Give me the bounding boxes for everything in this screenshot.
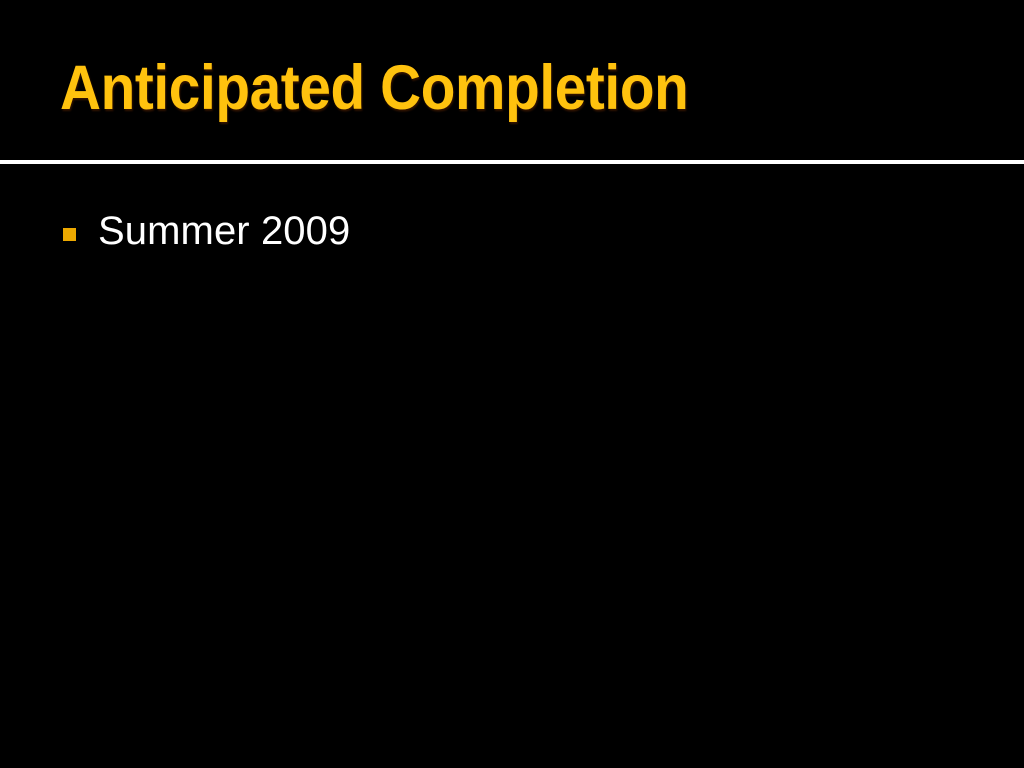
page-title: Anticipated Completion <box>60 48 874 128</box>
list-item: Summer 2009 <box>63 206 963 256</box>
bullet-list: Summer 2009 <box>63 206 963 266</box>
title-divider-rule <box>0 160 1024 164</box>
presentation-slide: Anticipated Completion Summer 2009 <box>0 0 1024 768</box>
list-item-label: Summer 2009 <box>98 206 350 256</box>
square-bullet-icon <box>63 228 76 241</box>
